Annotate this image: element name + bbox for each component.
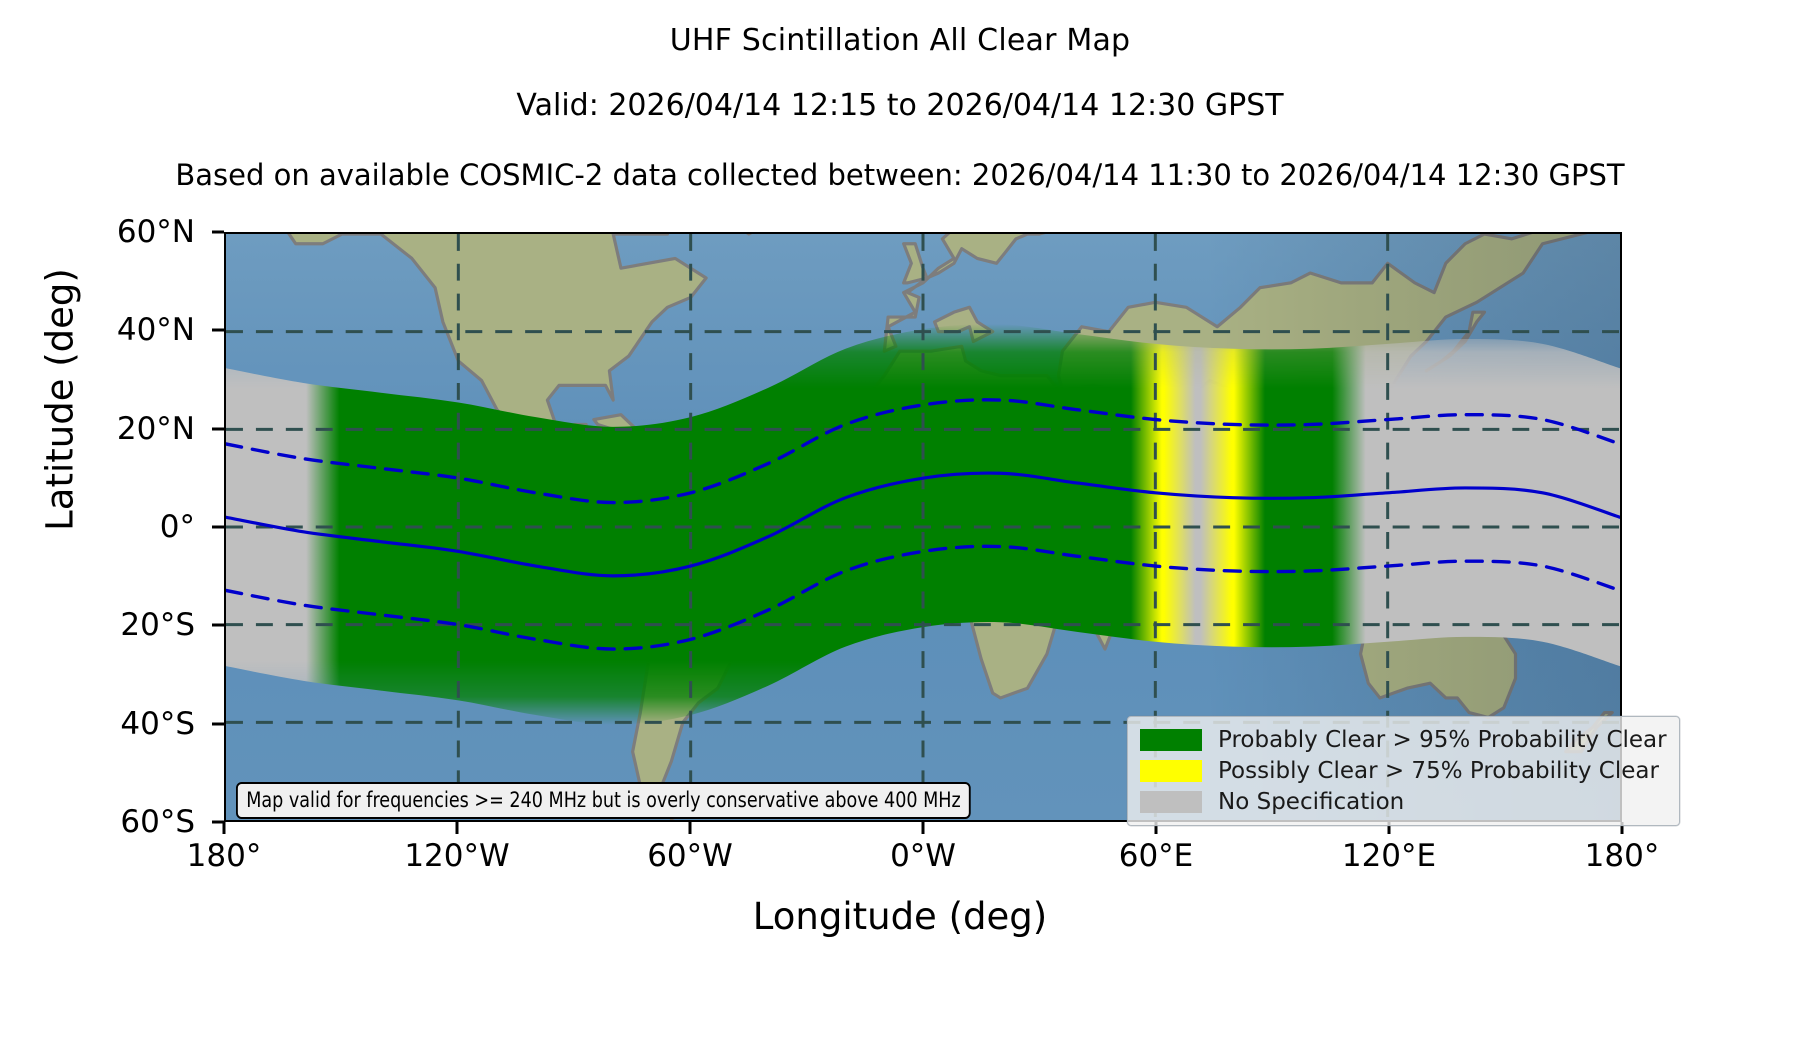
- x-tick-mark: [922, 822, 925, 834]
- x-tick-label: 120°E: [1279, 838, 1499, 874]
- y-tick-label: 40°S: [35, 706, 195, 742]
- y-tick-mark: [212, 329, 224, 332]
- x-tick-mark: [223, 822, 226, 834]
- legend-label: Probably Clear > 95% Probability Clear: [1218, 727, 1667, 753]
- x-tick-mark: [456, 822, 459, 834]
- page-title: UHF Scintillation All Clear Map: [0, 23, 1800, 58]
- y-tick-mark: [212, 526, 224, 529]
- x-tick-label: 180°: [114, 838, 334, 874]
- green-swatch: [1140, 729, 1202, 751]
- frequency-validity-note: Map valid for frequencies >= 240 MHz but…: [236, 782, 971, 819]
- legend-row: Probably Clear > 95% Probability Clear: [1140, 724, 1667, 755]
- data-source-subtitle: Based on available COSMIC-2 data collect…: [0, 158, 1800, 192]
- y-tick-mark: [212, 624, 224, 627]
- x-tick-mark: [689, 822, 692, 834]
- map-legend: Probably Clear > 95% Probability ClearPo…: [1127, 716, 1680, 826]
- y-tick-mark: [212, 231, 224, 234]
- legend-label: No Specification: [1218, 789, 1404, 815]
- legend-row: No Specification: [1140, 786, 1667, 817]
- x-tick-label: 60°E: [1046, 838, 1266, 874]
- y-tick-label: 60°N: [35, 214, 195, 250]
- x-tick-label: 120°W: [347, 838, 567, 874]
- x-tick-label: 60°W: [580, 838, 800, 874]
- y-tick-label: 0°: [35, 509, 195, 545]
- x-axis-label: Longitude (deg): [0, 895, 1800, 938]
- gray-swatch: [1140, 791, 1202, 813]
- y-tick-label: 60°S: [35, 804, 195, 840]
- y-tick-mark: [212, 427, 224, 430]
- yellow-swatch: [1140, 760, 1202, 782]
- legend-row: Possibly Clear > 75% Probability Clear: [1140, 755, 1667, 786]
- y-tick-label: 40°N: [35, 312, 195, 348]
- legend-label: Possibly Clear > 75% Probability Clear: [1218, 758, 1659, 784]
- valid-period-subtitle: Valid: 2026/04/14 12:15 to 2026/04/14 12…: [0, 88, 1800, 123]
- x-tick-label: 0°W: [813, 838, 1033, 874]
- scintillation-map-page: UHF Scintillation All Clear Map Valid: 2…: [0, 0, 1800, 1050]
- y-tick-label: 20°S: [35, 607, 195, 643]
- y-tick-mark: [212, 722, 224, 725]
- y-tick-label: 20°N: [35, 411, 195, 447]
- x-tick-label: 180°: [1512, 838, 1732, 874]
